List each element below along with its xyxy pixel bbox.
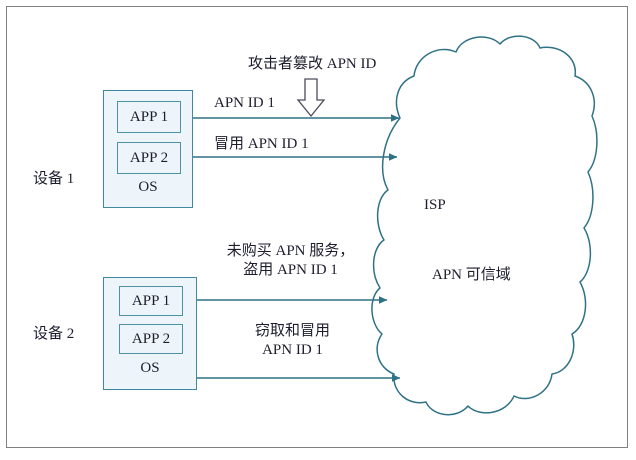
device-2-app-1[interactable]: APP 1 (119, 286, 183, 316)
flow-label-4-line-2: APN ID 1 (210, 341, 375, 360)
device-1-os-label: OS (104, 179, 192, 196)
device-1-app-1[interactable]: APP 1 (117, 101, 181, 133)
device-1-label: 设备 1 (33, 170, 74, 189)
isp-label: ISP (424, 196, 446, 215)
device-2-os-label: OS (104, 360, 196, 377)
device-2-label: 设备 2 (33, 325, 74, 344)
flow-label-3: 未购买 APN 服务， 盗用 APN ID 1 (203, 242, 378, 280)
flow-label-2: 冒用 APN ID 1 (214, 135, 309, 154)
device-2-app-2[interactable]: APP 2 (119, 324, 183, 354)
flow-label-4: 窃取和冒用 APN ID 1 (210, 322, 375, 360)
flow-label-3-line-2: 盗用 APN ID 1 (203, 261, 378, 280)
device-1-app-2-label: APP 2 (130, 150, 168, 167)
device-2-app-1-label: APP 1 (132, 293, 170, 310)
device-1-app-2[interactable]: APP 2 (117, 142, 181, 174)
diagram-canvas: 攻击者篡改 APN ID 设备 1 APP 1 APP 2 OS 设备 2 AP… (0, 0, 636, 460)
device-1-box: APP 1 APP 2 OS (103, 90, 193, 208)
device-2-box: APP 1 APP 2 OS (103, 277, 197, 390)
attacker-tamper-label: 攻击者篡改 APN ID (248, 55, 376, 74)
flow-label-1: APN ID 1 (214, 94, 275, 113)
device-1-app-1-label: APP 1 (130, 109, 168, 126)
apn-trusted-domain-label: APN 可信域 (432, 266, 511, 285)
flow-label-3-line-1: 未购买 APN 服务， (203, 242, 378, 261)
flow-label-4-line-1: 窃取和冒用 (210, 322, 375, 341)
device-2-app-2-label: APP 2 (132, 331, 170, 348)
